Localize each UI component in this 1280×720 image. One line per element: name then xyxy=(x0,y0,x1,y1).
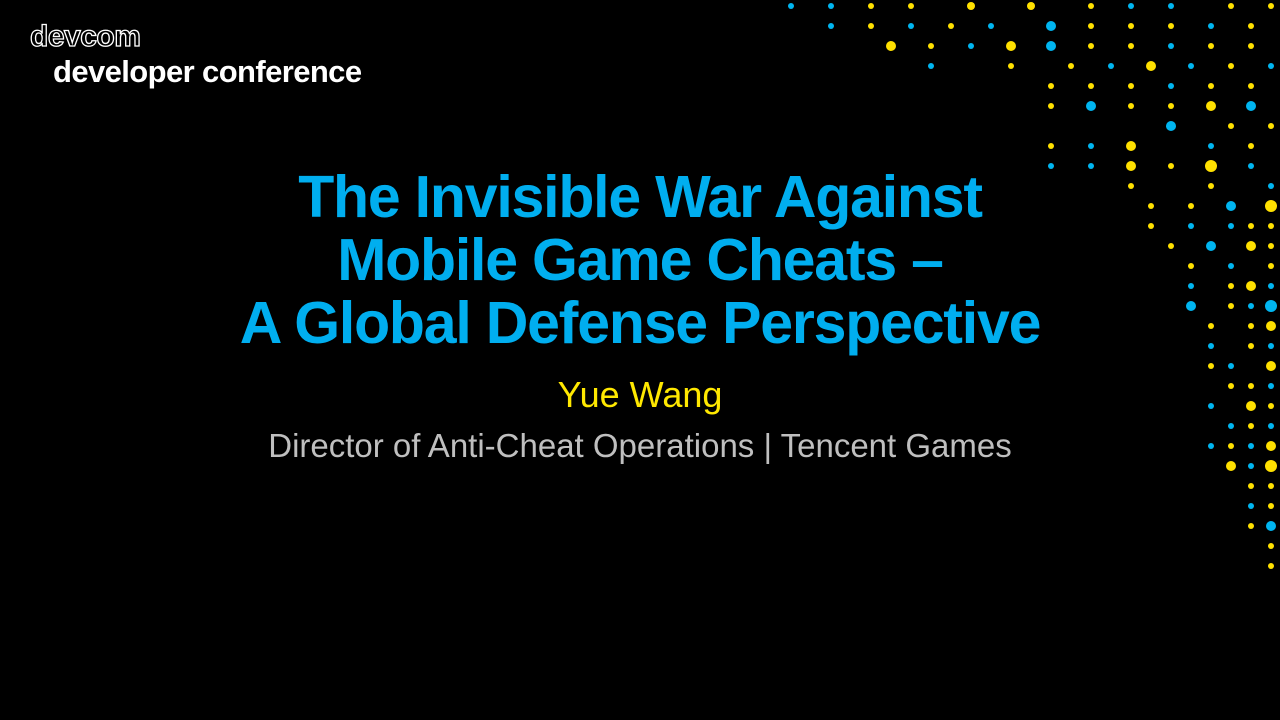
presentation-title: The Invisible War Against Mobile Game Ch… xyxy=(0,166,1280,355)
title-line-1: The Invisible War Against xyxy=(0,166,1280,229)
title-line-2: Mobile Game Cheats – xyxy=(0,229,1280,292)
speaker-name: Yue Wang xyxy=(0,375,1280,415)
devcom-logo: devcom developer conference xyxy=(30,22,361,88)
decorative-dot xyxy=(1268,563,1274,569)
decorative-dot xyxy=(1266,521,1276,531)
decorative-dot xyxy=(1268,483,1274,489)
decorative-dot xyxy=(1268,543,1274,549)
title-slide: devcom developer conference The Invisibl… xyxy=(0,0,1280,720)
decorative-dot xyxy=(1248,523,1254,529)
logo-subtitle-text: developer conference xyxy=(53,55,361,88)
decorative-dot xyxy=(1248,483,1254,489)
title-line-3: A Global Defense Perspective xyxy=(0,292,1280,355)
speaker-role: Director of Anti-Cheat Operations | Tenc… xyxy=(0,427,1280,465)
decorative-dot xyxy=(1268,503,1274,509)
logo-brand-text: devcom xyxy=(30,22,361,52)
decorative-dot xyxy=(1248,503,1254,509)
